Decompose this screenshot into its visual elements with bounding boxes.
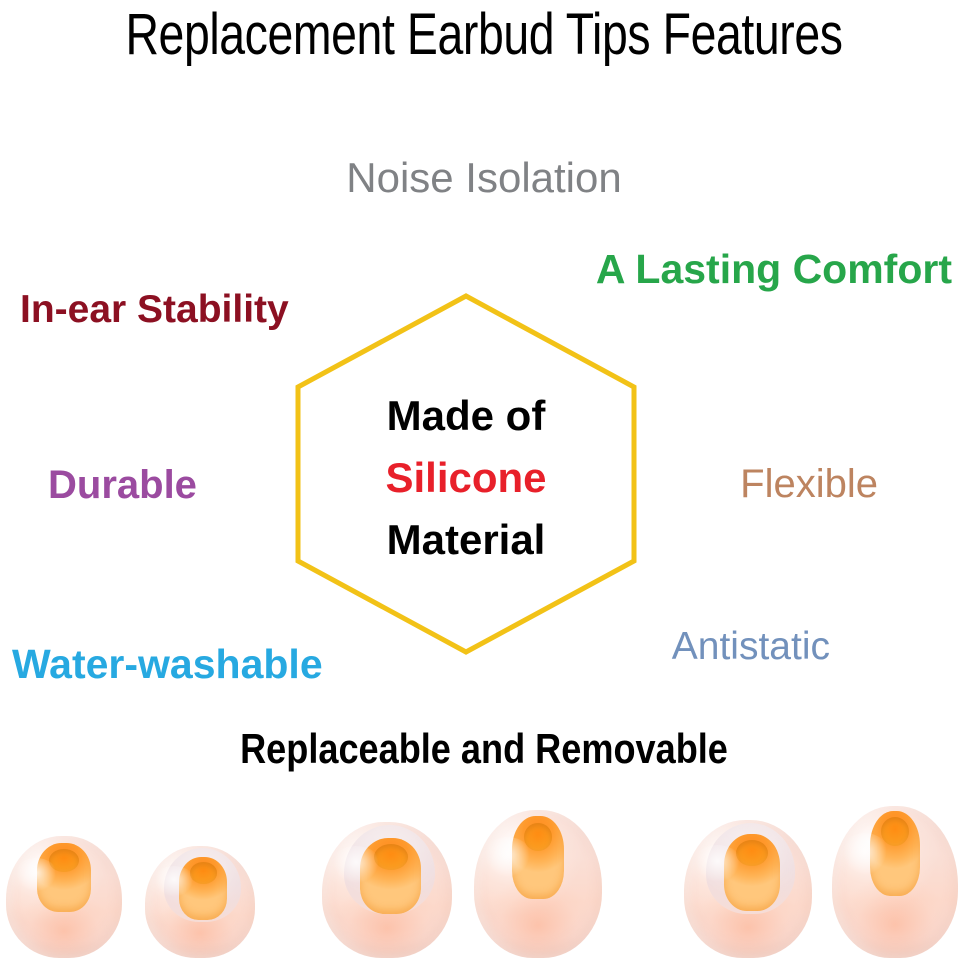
earbud-tip (474, 810, 602, 958)
page-title: Replacement Earbud Tips Features (97, 2, 871, 68)
feature-label-antistatic: Antistatic (672, 627, 830, 668)
feature-label-in-ear-stability: In-ear Stability (20, 290, 289, 331)
infographic-canvas: Replacement Earbud Tips Features Noise I… (0, 0, 968, 958)
feature-label-noise-isolation: Noise Isolation (0, 156, 968, 200)
earbud-tip-bore (524, 823, 553, 851)
earbud-tip (322, 822, 452, 958)
feature-label-flexible: Flexible (740, 463, 878, 505)
earbud-tip (832, 806, 958, 958)
earbud-tip (684, 820, 812, 958)
hexagon-center-text: Made of Silicone Material (294, 385, 638, 571)
feature-label-durable: Durable (48, 464, 197, 506)
hexagon-line-made-of: Made of (294, 385, 638, 447)
earbud-tip (145, 846, 255, 958)
hexagon-line-material: Material (294, 509, 638, 571)
feature-label-a-lasting-comfort: A Lasting Comfort (596, 248, 952, 291)
feature-label-replaceable-and-removable: Replaceable and Removable (68, 727, 900, 771)
feature-label-water-washable: Water-washable (12, 643, 323, 686)
earbud-tip (6, 836, 122, 958)
earbud-tips-photo (0, 800, 968, 958)
earbud-tip-bore (49, 849, 79, 872)
hexagon-line-silicone: Silicone (294, 447, 638, 509)
earbud-tip-bore (190, 862, 217, 883)
earbud-tip-bore (736, 840, 768, 866)
